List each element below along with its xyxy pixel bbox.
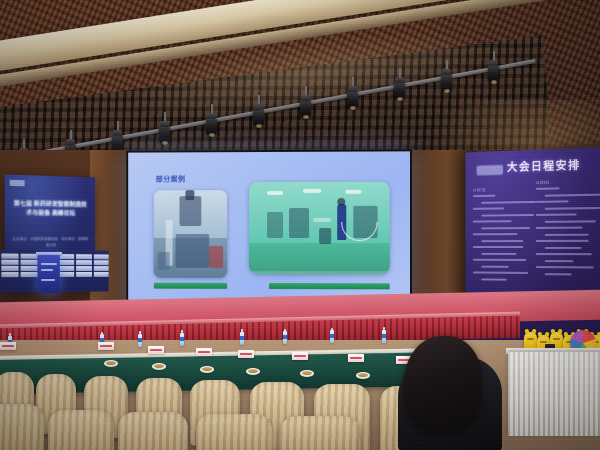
event-title-text: 第七届 新药研发智能制造技术与装备 高峰论坛: [13, 199, 87, 218]
schedule-column-right: 11月8日: [536, 178, 597, 279]
sponsor-logo-tile[interactable]: [20, 272, 37, 277]
schedule-line: [536, 227, 583, 229]
conference-logo: [477, 165, 503, 176]
snack-plate: [356, 372, 370, 379]
schedule-day1-heading: 11月7日: [473, 186, 531, 192]
workshop-photo: [249, 182, 390, 275]
schedule-line: [473, 259, 527, 261]
moving-head-lamp: [300, 100, 311, 117]
display-table: [508, 352, 600, 436]
event-subtitle-text: 主办单位：中国制药装备协会 · 协办单位：智能制造分会: [11, 236, 89, 248]
moving-head-lamp: [441, 74, 452, 91]
banquet-chair-cover[interactable]: [48, 410, 114, 450]
banquet-chair-cover[interactable]: [280, 416, 360, 450]
schedule-line: [536, 253, 592, 255]
delegate-name-card: [0, 342, 16, 350]
sponsor-logo-tile[interactable]: [93, 260, 108, 264]
snack-plate: [246, 368, 260, 375]
schedule-line: [473, 233, 518, 235]
water-bottle: [283, 331, 287, 344]
moving-head-light: [441, 74, 452, 91]
snack-plate: [104, 360, 118, 367]
schedule-line: [536, 187, 560, 190]
moving-head-light: [488, 65, 499, 82]
delegate-name-card: [348, 354, 364, 362]
schedule-banner-title: 大会日程安排: [507, 156, 581, 174]
schedule-line: [473, 207, 504, 209]
schedule-line: [481, 278, 507, 280]
moving-head-light: [159, 126, 170, 143]
sponsor-logo-tile[interactable]: [93, 266, 108, 270]
schedule-line: [544, 273, 572, 275]
sponsor-logo-tile[interactable]: [76, 254, 92, 259]
schedule-line: [544, 260, 573, 262]
sponsor-logo-tile[interactable]: [1, 260, 19, 265]
organizer-logo: [10, 180, 25, 187]
led-screen-surface: 部分案例: [128, 151, 410, 311]
schedule-line: [473, 271, 528, 273]
sponsor-logo-tile[interactable]: [58, 266, 75, 271]
schedule-line: [473, 246, 523, 248]
schedule-day2-heading: 11月8日: [536, 178, 597, 185]
moving-head-light: [253, 109, 264, 126]
schedule-line: [481, 265, 509, 267]
speaker-podium[interactable]: [38, 255, 60, 293]
delegate-name-card: [292, 352, 308, 360]
sponsor-logo-tile[interactable]: [20, 260, 37, 265]
schedule-line: [536, 213, 576, 216]
schedule-line: [481, 252, 517, 254]
moving-head-lamp: [159, 126, 170, 143]
schedule-line: [481, 227, 530, 229]
photo-right-caption: [269, 283, 390, 289]
moving-head-light: [206, 118, 217, 135]
schedule-line: [544, 233, 589, 235]
schedule-line: [481, 200, 536, 203]
banquet-chair-cover[interactable]: [0, 404, 44, 450]
sponsor-logo-tile[interactable]: [20, 266, 37, 271]
sponsor-logo-tile[interactable]: [93, 272, 108, 276]
schedule-line: [536, 266, 594, 268]
water-bottle: [330, 330, 334, 343]
sponsor-logo-tile[interactable]: [58, 260, 75, 265]
moving-head-light: [300, 100, 311, 117]
water-bottle: [382, 330, 386, 343]
moving-head-light: [394, 82, 405, 99]
schedule-line: [544, 220, 595, 223]
schedule-line: [481, 240, 524, 242]
main-led-screen[interactable]: 部分案例: [126, 149, 412, 313]
snack-plate: [300, 370, 314, 377]
moving-head-lamp: [394, 82, 405, 99]
schedule-line: [544, 193, 600, 196]
schedule-line: [473, 195, 496, 197]
delegate-name-card: [98, 342, 114, 350]
sponsor-logo-tile[interactable]: [93, 254, 108, 259]
snack-plate: [200, 366, 214, 373]
schedule-line: [536, 240, 589, 242]
delegate-name-card: [196, 348, 212, 356]
sponsor-logo-tile[interactable]: [58, 272, 75, 277]
schedule-line: [481, 213, 534, 216]
schedule-column-left: 11月7日: [473, 186, 531, 285]
water-bottle: [138, 334, 142, 347]
banquet-chair-cover[interactable]: [196, 414, 272, 450]
sponsor-logo-tile[interactable]: [1, 272, 19, 277]
delegate-name-card: [148, 346, 164, 354]
sponsor-logo-tile[interactable]: [76, 272, 92, 276]
moving-head-lamp: [253, 109, 264, 126]
moving-head-light: [347, 91, 358, 108]
equipment-photo: [154, 190, 227, 278]
moving-head-lamp: [488, 65, 499, 82]
delegate-name-card: [238, 350, 254, 358]
conference-hall-photo: 部分案例: [0, 0, 600, 450]
sponsor-logo-tile[interactable]: [1, 266, 19, 271]
water-bottle: [240, 332, 244, 345]
moving-head-lamp: [347, 91, 358, 108]
schedule-line: [544, 246, 582, 248]
water-bottle: [180, 333, 184, 346]
moving-head-lamp: [206, 118, 217, 135]
schedule-line: [473, 220, 511, 222]
snack-plate: [152, 363, 166, 370]
sponsor-logo-tile[interactable]: [76, 260, 92, 265]
schedule-line: [536, 200, 568, 203]
sponsor-logo-tile[interactable]: [76, 266, 92, 270]
seated-attendee-hair: [404, 336, 482, 432]
sponsor-logo-tile[interactable]: [1, 254, 19, 259]
banquet-chair-cover[interactable]: [118, 412, 188, 450]
photo-left-caption: [154, 283, 227, 289]
slide-title: 部分案例: [156, 174, 186, 184]
schedule-line: [544, 206, 599, 209]
